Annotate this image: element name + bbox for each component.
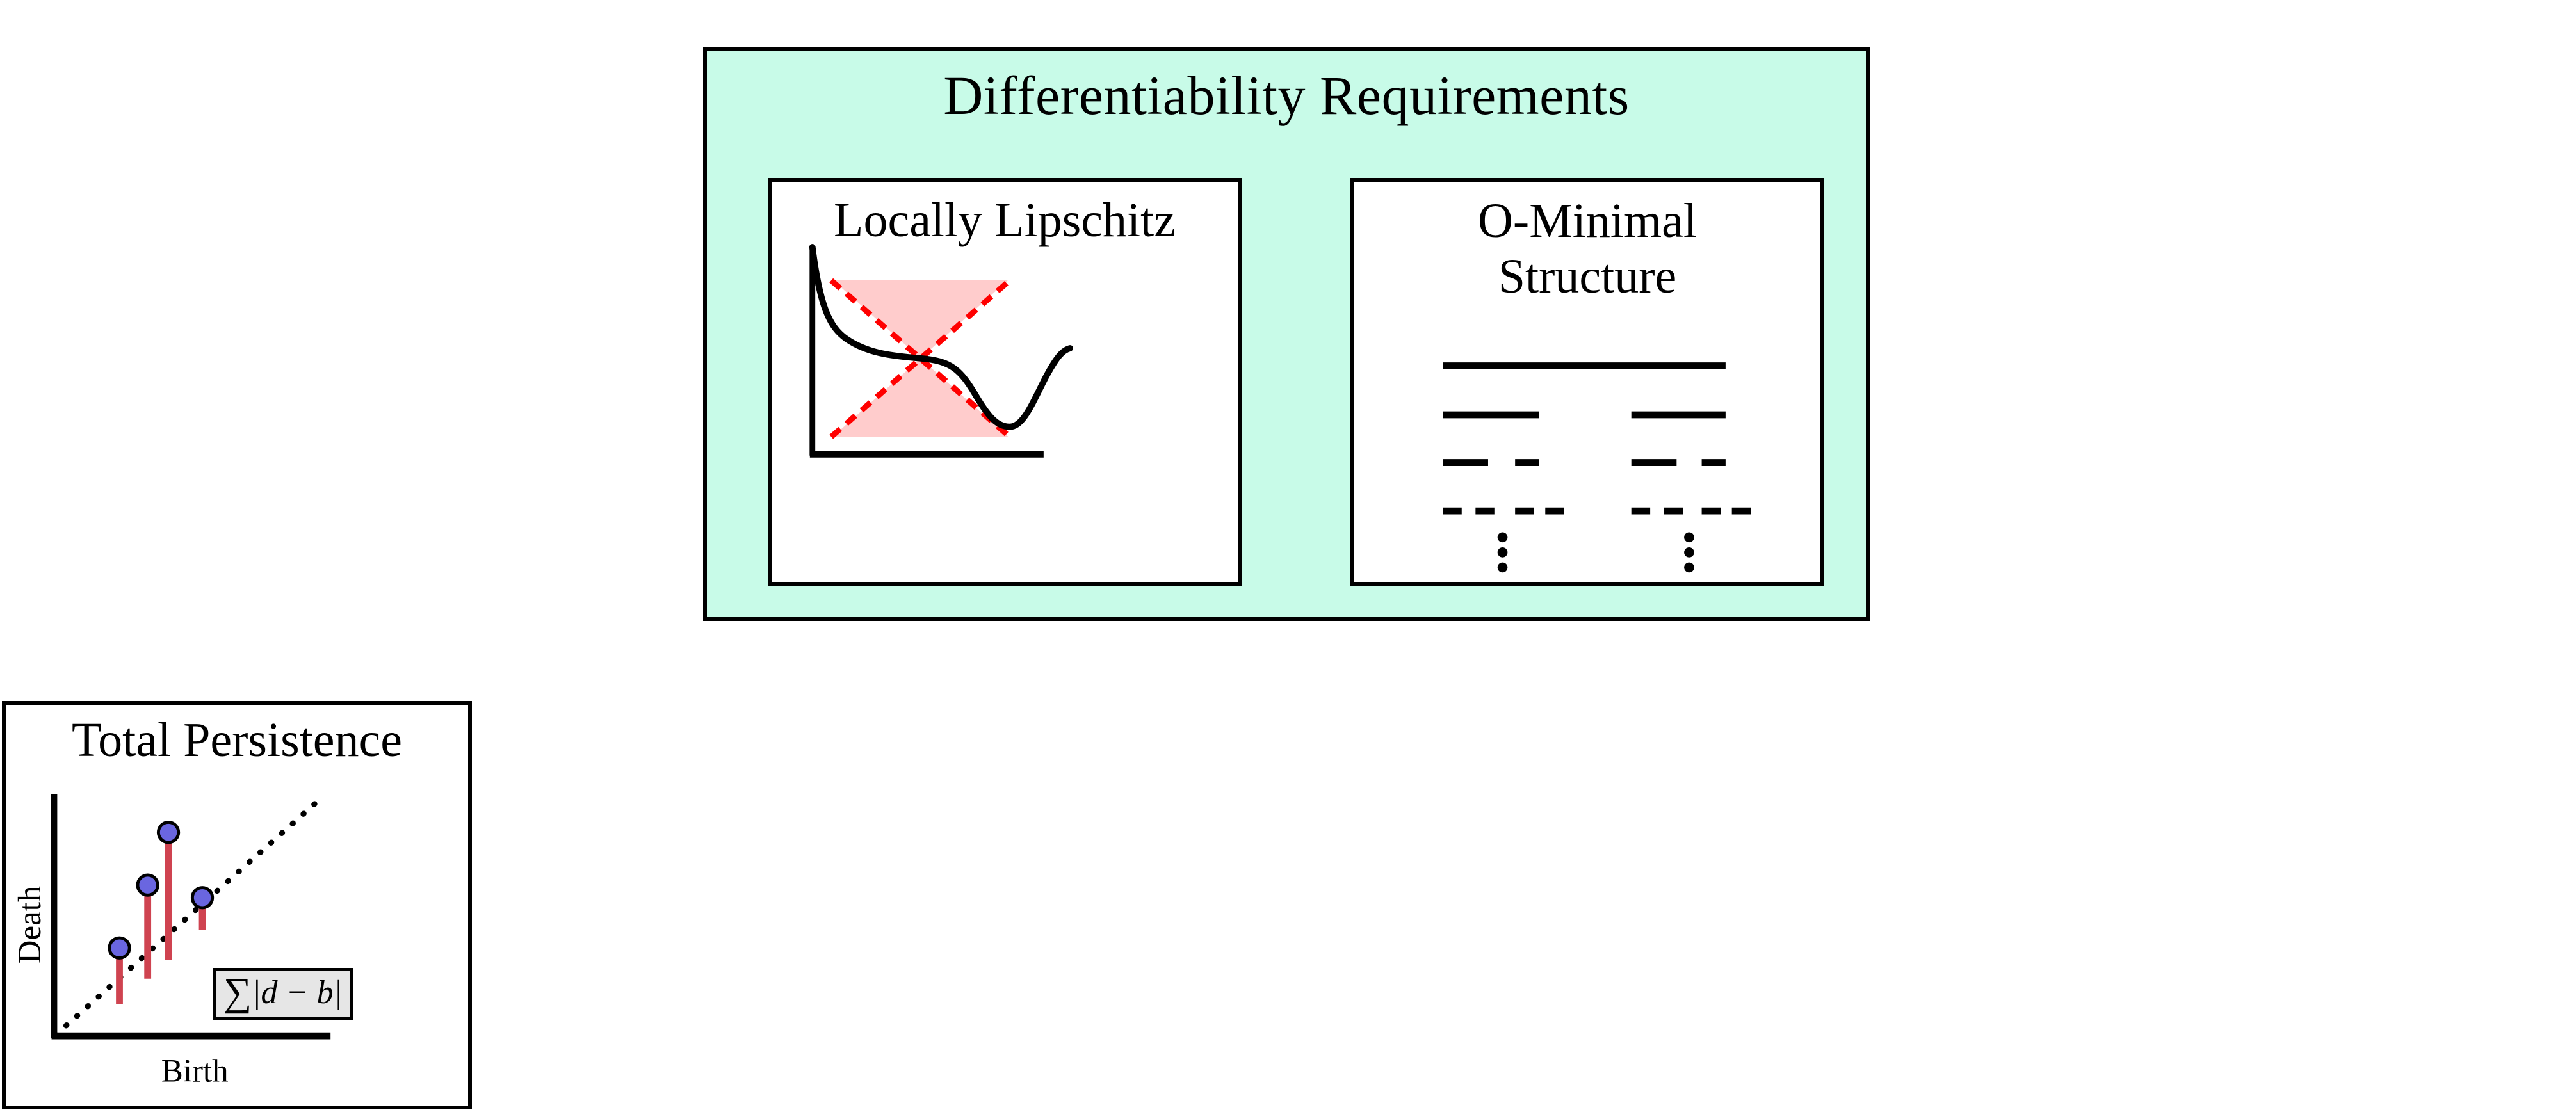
total-persistence-formula-chip: ∑|d − b| [213,968,353,1020]
omin-ellipsis-left [1498,532,1508,572]
subpanel-o-minimal-structure: O-Minimal Structure [1350,178,1824,586]
persistence-x-axis-label: Birth [161,1054,229,1090]
locally-lipschitz-figure [772,182,1238,582]
persistence-point-1 [109,938,129,958]
persistence-stems [120,835,203,1004]
persistence-diagram-figure: Death Birth [6,705,468,1106]
persistence-point-3 [158,822,178,842]
subpanel-locally-lipschitz: Locally Lipschitz [768,178,1242,586]
lipschitz-cone-lower-fill [832,359,1009,437]
persistence-y-axis-label: Death [12,886,48,964]
omin-ellipsis-right [1684,532,1694,572]
persistence-point-2 [138,875,158,895]
persistence-point-4 [192,888,212,908]
total-persistence-panel: Total Persistence Death Birth [2,701,472,1109]
differentiability-requirements-panel: Differentiability Requirements Locally L… [703,47,1870,621]
total-persistence-formula-expression: |d − b| [252,974,343,1011]
differentiability-requirements-title: Differentiability Requirements [707,65,1866,126]
summation-icon: ∑ [223,971,252,1014]
o-minimal-decomposition-figure [1354,182,1820,582]
